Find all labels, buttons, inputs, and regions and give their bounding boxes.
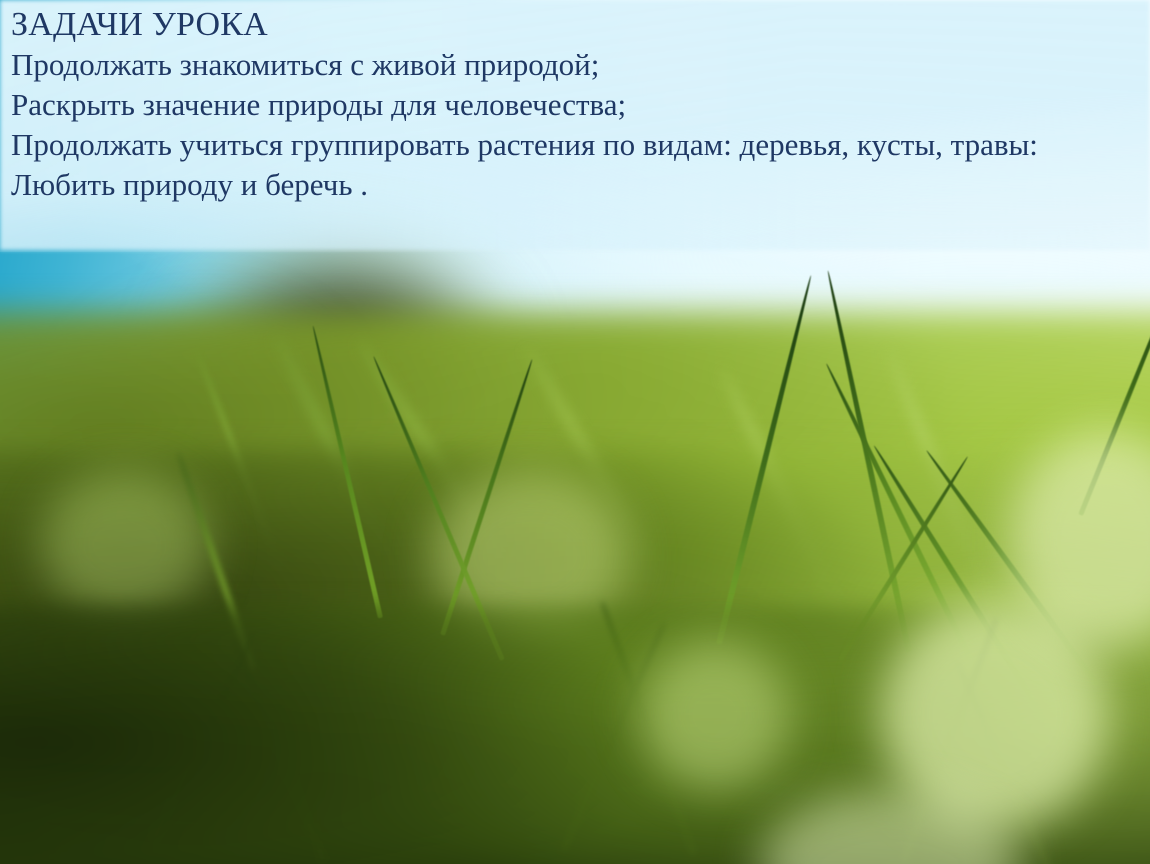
objective-line-2: Раскрыть значение природы для человечест… xyxy=(11,85,1141,125)
objective-line-4: Любить природу и беречь . xyxy=(11,165,1141,205)
grass-blade xyxy=(311,325,383,618)
page-title: ЗАДАЧИ УРОКА xyxy=(11,4,1141,45)
grass-blade xyxy=(825,270,912,653)
grass-blade xyxy=(716,275,814,645)
bokeh-highlight xyxy=(640,640,790,790)
objective-line-3: Продолжать учиться группировать растения… xyxy=(11,125,1141,165)
objective-line-1: Продолжать знакомиться с живой природой; xyxy=(11,45,1141,85)
objectives-list: Продолжать знакомиться с живой природой;… xyxy=(11,45,1141,205)
grass-blade xyxy=(440,358,534,635)
slide-text-block: ЗАДАЧИ УРОКА Продолжать знакомиться с жи… xyxy=(11,4,1141,205)
presentation-slide: ЗАДАЧИ УРОКА Продолжать знакомиться с жи… xyxy=(0,0,1150,864)
